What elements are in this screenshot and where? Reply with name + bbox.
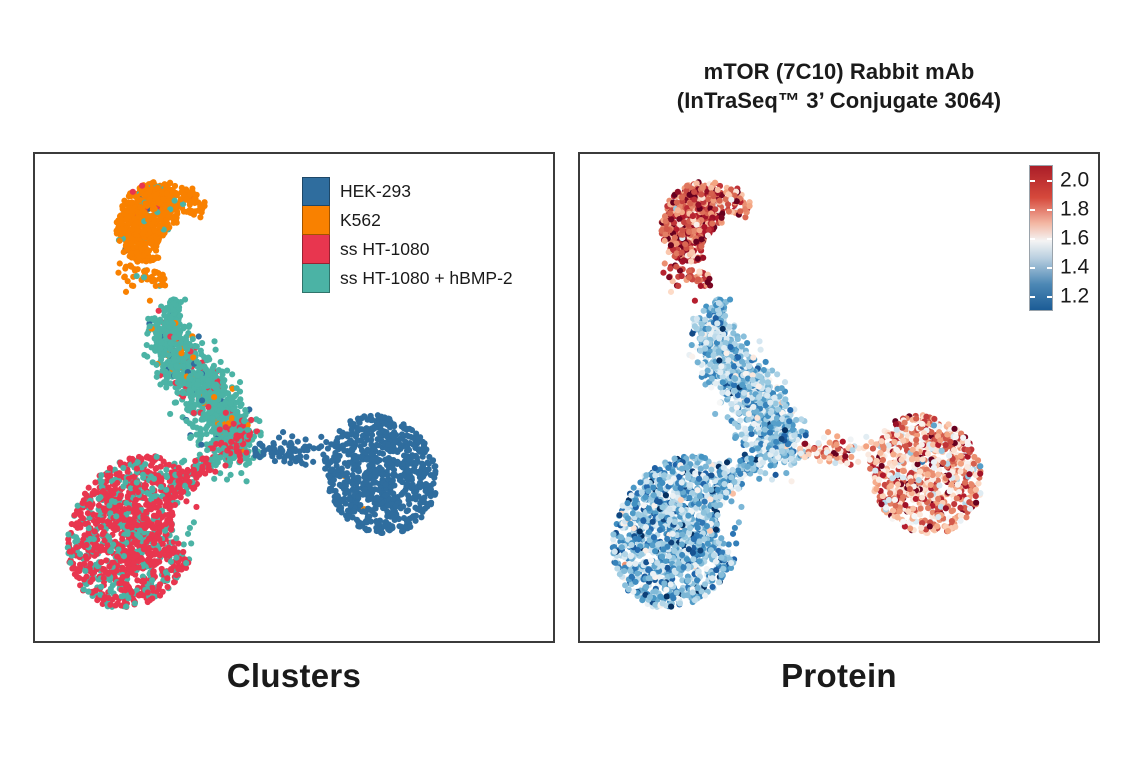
figure-title: mTOR (7C10) Rabbit mAb (InTraSeq™ 3’ Con… (578, 58, 1100, 115)
scatter-point (189, 404, 195, 410)
scatter-point (84, 574, 90, 580)
scatter-point (399, 431, 405, 437)
scatter-point (390, 514, 396, 520)
scatter-point (119, 536, 125, 542)
scatter-point (105, 571, 111, 577)
scatter-point (675, 189, 681, 195)
scatter-point (288, 442, 294, 448)
scatter-point (145, 550, 151, 556)
scatter-point (698, 283, 704, 289)
scatter-point (119, 593, 125, 599)
scatter-point (83, 492, 89, 498)
scatter-point (83, 542, 89, 548)
scatter-point (121, 274, 127, 280)
scatter-point (180, 390, 186, 396)
scatter-point (180, 191, 186, 197)
scatter-point (144, 454, 150, 460)
scatter-point (107, 548, 113, 554)
scatter-point (123, 289, 129, 295)
scatter-point (348, 421, 354, 427)
scatter-point (173, 572, 179, 578)
scatter-point (349, 472, 355, 478)
scatter-point (133, 497, 139, 503)
scatter-point (116, 580, 122, 586)
scatter-point (211, 394, 217, 400)
scatter-point (242, 407, 248, 413)
scatter-point (81, 561, 87, 567)
scatter-point (666, 274, 672, 280)
legend-item-hek-293[interactable]: HEK-293 (302, 177, 513, 206)
scatter-point (365, 447, 371, 453)
scatter-point (386, 465, 392, 471)
scatter-point (119, 565, 125, 571)
scatter-point (682, 241, 688, 247)
scatter-point (82, 521, 88, 527)
scatter-point (117, 231, 123, 237)
scatter-point (331, 477, 337, 483)
scatter-point (158, 475, 164, 481)
scatter-point (338, 505, 344, 511)
scatter-point (696, 268, 702, 274)
scatter-point (141, 229, 147, 235)
scatter-point (383, 492, 389, 498)
scatter-point (179, 459, 185, 465)
scatter-point (148, 239, 154, 245)
figure-title-line-2: (InTraSeq™ 3’ Conjugate 3064) (578, 87, 1100, 116)
scatter-point (175, 326, 181, 332)
scatter-point (133, 485, 139, 491)
scatter-point (169, 512, 175, 518)
scatter-point (183, 197, 189, 203)
scatter-point (174, 215, 180, 221)
scatter-point (113, 513, 119, 519)
scatter-point (171, 579, 177, 585)
scatter-point (200, 416, 206, 422)
scatter-point (679, 250, 685, 256)
scatter-point (691, 189, 697, 195)
scatter-point (415, 435, 421, 441)
scatter-point (715, 187, 721, 193)
scatter-point (153, 336, 159, 342)
scatter-point (747, 203, 753, 209)
scatter-point (134, 250, 140, 256)
scatter-point (143, 258, 149, 264)
scatter-point (662, 260, 668, 266)
protein-scatter-plot (580, 154, 1098, 641)
scatter-point (119, 226, 125, 232)
scatter-point (432, 471, 438, 477)
scatter-point (164, 220, 170, 226)
scatter-point (129, 199, 135, 205)
scatter-point (280, 429, 286, 435)
scatter-point (87, 561, 93, 567)
scatter-point (140, 513, 146, 519)
scatter-point (211, 338, 217, 344)
scatter-point (165, 584, 171, 590)
protein-plot-panel: 2.0 1.8 1.6 1.4 1.2 (578, 152, 1100, 643)
scatter-point (380, 451, 386, 457)
scatter-point (193, 504, 199, 510)
scatter-point (223, 410, 229, 416)
scatter-point (86, 485, 92, 491)
scatter-point (162, 361, 168, 367)
scatter-point (698, 191, 704, 197)
scatter-point (162, 496, 168, 502)
scatter-point (719, 215, 725, 221)
scatter-point (133, 507, 139, 513)
scatter-point (737, 208, 743, 214)
scatter-point (734, 198, 740, 204)
scatter-point (368, 416, 374, 422)
legend-item-k562[interactable]: K562 (302, 206, 513, 235)
scatter-point (201, 363, 207, 369)
scatter-point (136, 257, 142, 263)
scatter-point (402, 488, 408, 494)
scatter-point (136, 564, 142, 570)
scatter-point (196, 333, 202, 339)
scatter-point (134, 479, 140, 485)
scatter-point (98, 472, 104, 478)
scatter-point (167, 180, 173, 186)
scatter-point (699, 185, 705, 191)
scatter-point (227, 400, 233, 406)
scatter-point (106, 492, 112, 498)
scatter-point (374, 421, 380, 427)
scatter-point (202, 203, 208, 209)
scatter-point (246, 432, 252, 438)
scatter-point (395, 460, 401, 466)
scatter-point (342, 490, 348, 496)
scatter-point (406, 447, 412, 453)
scatter-point (154, 370, 160, 376)
scatter-point (705, 279, 711, 285)
legend-label-ss-ht-1080-hbmp-2: ss HT-1080 + hBMP-2 (340, 268, 513, 289)
scatter-point (154, 185, 160, 191)
scatter-point (428, 500, 434, 506)
scatter-point (181, 324, 187, 330)
scatter-point (408, 434, 414, 440)
scatter-point (403, 482, 409, 488)
scatter-point (168, 527, 174, 533)
scatter-point (168, 559, 174, 565)
scatter-point (197, 426, 203, 432)
scatter-point (114, 554, 120, 560)
legend-item-ss-ht-1080-hbmp-2[interactable]: ss HT-1080 + hBMP-2 (302, 264, 513, 293)
scatter-point (123, 242, 129, 248)
scatter-point (168, 364, 174, 370)
scatter-point (110, 541, 116, 547)
scatter-point (192, 208, 198, 214)
scatter-point (176, 481, 182, 487)
scatter-point (115, 270, 121, 276)
scatter-point (128, 264, 134, 270)
scatter-point (668, 216, 674, 222)
scatter-point (142, 482, 148, 488)
scatter-point (417, 480, 423, 486)
scatter-point (386, 459, 392, 465)
scatter-point (141, 274, 147, 280)
scatter-point (220, 379, 226, 385)
scatter-point (141, 495, 147, 501)
scatter-point (151, 476, 157, 482)
scatter-point (226, 395, 232, 401)
scatter-point (150, 256, 156, 262)
scatter-point (362, 525, 368, 531)
scatter-point (248, 417, 254, 423)
scatter-point (332, 450, 338, 456)
legend-swatch-ss-ht-1080-hbmp-2 (302, 264, 330, 293)
scatter-point (233, 436, 239, 442)
scatter-point (303, 436, 309, 442)
scatter-point (672, 235, 678, 241)
scatter-point (90, 511, 96, 517)
scatter-point (160, 368, 166, 374)
scatter-point (371, 477, 377, 483)
scatter-point (243, 456, 249, 462)
scatter-point (67, 549, 73, 555)
scatter-point (695, 276, 701, 282)
scatter-point (686, 274, 692, 280)
scatter-point (675, 283, 681, 289)
scatter-point (171, 300, 177, 306)
scatter-point (128, 240, 134, 246)
scatter-point (154, 454, 160, 460)
legend-item-ss-ht-1080[interactable]: ss HT-1080 (302, 235, 513, 264)
scatter-point (354, 425, 360, 431)
scatter-point (266, 446, 272, 452)
scatter-point (310, 459, 316, 465)
scatter-point (422, 506, 428, 512)
scatter-point (243, 478, 249, 484)
scatter-point (82, 568, 88, 574)
scatter-point (160, 541, 166, 547)
scatter-point (347, 502, 353, 508)
scatter-point (673, 264, 679, 270)
scatter-point (85, 510, 91, 516)
scatter-point (276, 434, 282, 440)
scatter-point (356, 468, 362, 474)
scatter-point (705, 232, 711, 238)
scatter-point (708, 185, 714, 191)
scatter-point (169, 320, 175, 326)
scatter-point (375, 456, 381, 462)
scatter-point (156, 510, 162, 516)
scatter-point (698, 243, 704, 249)
scatter-point (686, 229, 692, 235)
scatter-point (423, 488, 429, 494)
scatter-point (142, 525, 148, 531)
scatter-point (101, 529, 107, 535)
scatter-point (151, 268, 157, 274)
scatter-point (297, 453, 303, 459)
scatter-point (130, 189, 136, 195)
scatter-point (196, 390, 202, 396)
scatter-point (176, 471, 182, 477)
scatter-point (344, 475, 350, 481)
scatter-point (158, 484, 164, 490)
scatter-point (180, 549, 186, 555)
scatter-point (355, 519, 361, 525)
scatter-point (351, 508, 357, 514)
scatter-point (380, 471, 386, 477)
scatter-point (112, 499, 118, 505)
scatter-point (413, 461, 419, 467)
scatter-point (129, 590, 135, 596)
scatter-point (146, 189, 152, 195)
scatter-point (159, 523, 165, 529)
scatter-point (386, 422, 392, 428)
scatter-point (400, 528, 406, 534)
scatter-point (394, 448, 400, 454)
scatter-point (81, 586, 87, 592)
scatter-point (728, 197, 734, 203)
scatter-point (674, 199, 680, 205)
scatter-point (241, 418, 247, 424)
scatter-point (234, 385, 240, 391)
scatter-point (693, 239, 699, 245)
scatter-point (329, 458, 335, 464)
scatter-point (172, 369, 178, 375)
scatter-point (328, 486, 334, 492)
scatter-point (166, 552, 172, 558)
scatter-point (163, 467, 169, 473)
scatter-point (165, 352, 171, 358)
scatter-point (303, 454, 309, 460)
scatter-point (223, 424, 229, 430)
scatter-point (218, 359, 224, 365)
scatter-point (149, 222, 155, 228)
scatter-point (230, 407, 236, 413)
scatter-point (146, 196, 152, 202)
scatter-point (182, 344, 188, 350)
scatter-point (186, 479, 192, 485)
scatter-point (406, 426, 412, 432)
scatter-point (134, 466, 140, 472)
scatter-point (401, 472, 407, 478)
scatter-point (744, 340, 750, 346)
scatter-point (151, 558, 157, 564)
legend-swatch-hek-293 (302, 177, 330, 206)
scatter-point (158, 464, 164, 470)
legend-swatch-k562 (302, 206, 330, 235)
scatter-point (183, 401, 189, 407)
scatter-point (192, 418, 198, 424)
scatter-point (222, 399, 228, 405)
scatter-point (127, 456, 133, 462)
scatter-point (194, 359, 200, 365)
scatter-point (694, 222, 700, 228)
scatter-point (373, 525, 379, 531)
scatter-point (199, 340, 205, 346)
scatter-point (191, 410, 197, 416)
scatter-point (134, 541, 140, 547)
scatter-point (123, 604, 129, 610)
scatter-point (664, 226, 670, 232)
scatter-point (150, 487, 156, 493)
scatter-point (333, 438, 339, 444)
scatter-point (115, 546, 121, 552)
scatter-point (139, 556, 145, 562)
scatter-point (107, 472, 113, 478)
scatter-point (134, 273, 140, 279)
scatter-point (76, 568, 82, 574)
scatter-point (172, 502, 178, 508)
scatter-point (237, 396, 243, 402)
scatter-point (132, 600, 138, 606)
scatter-point (389, 523, 395, 529)
scatter-point (692, 298, 698, 304)
scatter-point (122, 210, 128, 216)
scatter-point (117, 238, 123, 244)
scatter-point (335, 457, 341, 463)
scatter-point (114, 480, 120, 486)
scatter-point (171, 348, 177, 354)
scatter-point (211, 383, 217, 389)
scatter-point (183, 498, 189, 504)
scatter-point (304, 447, 310, 453)
scatter-point (406, 501, 412, 507)
scatter-point (694, 180, 700, 186)
scatter-point (150, 359, 156, 365)
scatter-point (211, 476, 217, 482)
scatter-point (150, 276, 156, 282)
scatter-point (205, 404, 211, 410)
scatter-point (341, 497, 347, 503)
scatter-point (428, 493, 434, 499)
scatter-point (386, 416, 392, 422)
scatter-point (392, 437, 398, 443)
scatter-point (187, 420, 193, 426)
scatter-point (413, 453, 419, 459)
scatter-point (681, 219, 687, 225)
scatter-point (104, 542, 110, 548)
scatter-point (679, 273, 685, 279)
scatter-point (161, 326, 167, 332)
scatter-point (382, 523, 388, 529)
scatter-point (163, 487, 169, 493)
scatter-point (320, 452, 326, 458)
scatter-point (675, 207, 681, 213)
scatter-point (231, 421, 237, 427)
scatter-point (123, 581, 129, 587)
figure-title-line-1: mTOR (7C10) Rabbit mAb (578, 58, 1100, 87)
scatter-point (377, 434, 383, 440)
scatter-point (173, 555, 179, 561)
scatter-point (243, 449, 249, 455)
scatter-point (334, 463, 340, 469)
scatter-point (182, 297, 188, 303)
scatter-point (87, 579, 93, 585)
scatter-point (197, 436, 203, 442)
scatter-point (270, 440, 276, 446)
scatter-point (87, 501, 93, 507)
scatter-point (136, 219, 142, 225)
scatter-point (160, 232, 166, 238)
scatter-point (709, 190, 715, 196)
scatter-point (201, 411, 207, 417)
scatter-point (350, 481, 356, 487)
scatter-point (146, 536, 152, 542)
scatter-point (170, 487, 176, 493)
scatter-point (117, 260, 123, 266)
scatter-point (178, 490, 184, 496)
scatter-point (99, 478, 105, 484)
legend-swatch-ss-ht-1080 (302, 235, 330, 264)
scatter-point (67, 560, 73, 566)
scatter-point (205, 377, 211, 383)
scatter-point (419, 464, 425, 470)
scatter-point (181, 541, 187, 547)
